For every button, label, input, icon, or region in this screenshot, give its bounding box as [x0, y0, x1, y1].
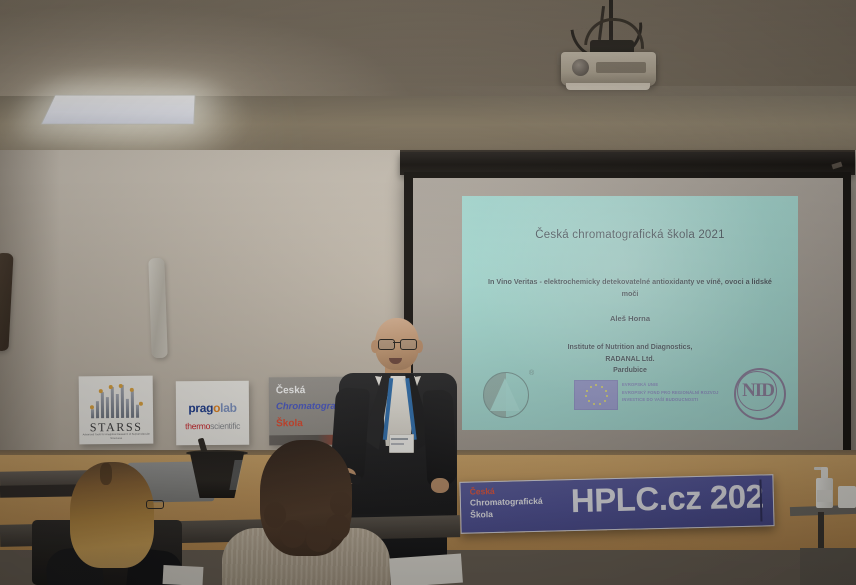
handout-paper-right [389, 554, 463, 585]
poster-ccs-line3: Škola [276, 418, 303, 429]
thermo-word-part1: thermo [185, 421, 210, 431]
poster-pragolab: pragolab thermoscientific [176, 381, 249, 446]
nid-monogram-text: NID [734, 380, 782, 402]
presentation-slide: Česká chromatografická škola 2021 In Vin… [462, 196, 798, 430]
projector-vent [596, 62, 646, 73]
audience-member-2 [222, 440, 390, 585]
sanitizer-label [817, 490, 832, 502]
slide-affiliation-line2: RADANAL Ltd. [462, 354, 798, 366]
thermoscientific-wordmark: thermoscientific [176, 421, 249, 432]
eu-text-line3: INVESTICE DO VAŠÍ BUDOUCNOSTI [622, 396, 732, 404]
banner-hplc-text: HPLC.cz 202 [570, 477, 763, 520]
speaker-arm-right [423, 389, 458, 486]
audience-member-1 [42, 462, 178, 585]
starss-tagline: Advanced Tools for Analytical Research o… [79, 433, 153, 442]
front-right-table [800, 548, 856, 585]
eu-text-line1: EVROPSKÁ UNIE [622, 381, 732, 389]
banner-line1: Česká [470, 486, 495, 497]
registered-trademark-icon: ® [529, 370, 534, 377]
pragolab-wordmark: pragolab [176, 401, 249, 416]
audience-1-hair [70, 462, 154, 568]
projector-base [566, 83, 650, 90]
eu-text-line2: EVROPSKÝ FOND PRO REGIONÁLNÍ ROZVOJ [622, 389, 732, 397]
starss-chromatogram-icon [89, 385, 144, 419]
badge-text-line1 [391, 438, 408, 440]
handout-paper-left [163, 565, 204, 585]
eyeglass-lens-right [400, 339, 417, 350]
presentation-room-photo: STARSS Advanced Tools for Analytical Res… [0, 0, 856, 585]
badge-text-line2 [391, 443, 404, 445]
poster-ccs-line1: Česká [276, 385, 306, 396]
eyeglass-lens-left [378, 339, 395, 350]
audience-1-glasses-icon [146, 500, 164, 509]
slide-title: Česká chromatografická škola 2021 [462, 229, 798, 241]
radanal-logo-icon: ® [483, 372, 527, 416]
speaker-hand-right [431, 478, 449, 493]
eu-funding-text: EVROPSKÁ UNIE EVROPSKÝ FOND PRO REGIONÁL… [622, 381, 732, 404]
eyeglass-bridge [393, 342, 400, 343]
slide-author: Aleš Horna [462, 314, 798, 323]
eyeglasses-icon [378, 339, 417, 348]
nid-logo-icon: NID [734, 368, 782, 416]
banner-line3: Škola [470, 509, 493, 520]
audience-1-hair-part [100, 463, 112, 485]
ceiling-light-panel-icon [40, 95, 195, 125]
poster-starss: STARSS Advanced Tools for Analytical Res… [79, 376, 154, 445]
banner-line2: Chromatografická [470, 496, 543, 508]
slide-subtitle: In Vino Veritas - elektrochemicky deteko… [482, 276, 778, 300]
eu-flag-icon [574, 380, 618, 410]
radanal-triangle [490, 378, 520, 411]
hplc-banner: Česká Chromatografická Škola HPLC.cz 202 [459, 474, 774, 534]
thermo-word-part2: scientific [210, 421, 240, 431]
slide-affiliation-line1: Institute of Nutrition and Diagnostics, [462, 342, 798, 354]
pragolab-word-part1: prag [188, 401, 213, 415]
projector-lens-icon [572, 59, 589, 76]
pragolab-word-part3: lab [220, 401, 237, 415]
audience-2-hair [260, 440, 352, 556]
tissue-box [838, 486, 856, 508]
